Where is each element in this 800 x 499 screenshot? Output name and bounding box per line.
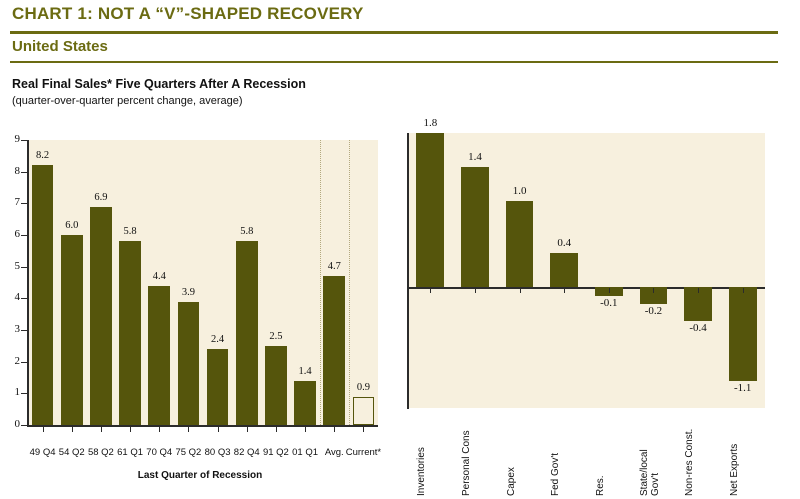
left-y-tick — [21, 267, 28, 268]
left-x-tick — [43, 426, 44, 432]
left-x-tick — [363, 426, 364, 432]
right-x-tick-label: State/local Gov't — [639, 412, 661, 496]
right-x-tick-label: Inventories — [416, 412, 427, 496]
left-bar-value-label: 6.9 — [85, 192, 117, 203]
right-x-tick-label: Capex — [506, 412, 517, 496]
left-x-tick — [276, 426, 277, 432]
left-bar — [265, 346, 287, 425]
left-y-tick — [21, 298, 28, 299]
left-y-tick-label: 0 — [4, 418, 20, 430]
left-bar — [294, 381, 316, 425]
left-bar-value-label: 2.4 — [202, 334, 234, 345]
right-bar-value-label: -0.2 — [633, 305, 673, 317]
left-bar-value-label: 2.5 — [260, 331, 292, 342]
right-bar-value-label: 1.0 — [500, 185, 540, 197]
left-bar-value-label: 0.9 — [347, 382, 379, 393]
right-x-tick-label: Res. — [595, 412, 606, 496]
right-x-tick — [475, 288, 476, 293]
right-y-axis — [407, 133, 409, 409]
chart-page: CHART 1: NOT A “V”-SHAPED RECOVERY Unite… — [0, 0, 800, 499]
left-chart-subtitle: (quarter-over-quarter percent change, av… — [12, 95, 243, 107]
right-bar — [461, 167, 489, 287]
left-bar — [61, 235, 83, 425]
left-y-tick — [21, 362, 28, 363]
left-y-tick-label: 1 — [4, 386, 20, 398]
left-y-tick — [21, 203, 28, 204]
left-bar-value-label: 5.8 — [114, 226, 146, 237]
left-y-tick-label: 3 — [4, 323, 20, 335]
left-category-separator — [320, 140, 321, 425]
right-x-tick — [698, 288, 699, 293]
right-x-tick-label: Personal Cons — [461, 412, 472, 496]
left-chart-panel: Real Final Sales* Five Quarters After A … — [0, 0, 395, 499]
left-y-tick — [21, 330, 28, 331]
left-y-tick — [21, 172, 28, 173]
left-bar — [353, 397, 375, 426]
left-bar — [119, 241, 141, 425]
left-x-tick — [188, 426, 189, 432]
right-bar-value-label: 1.8 — [410, 117, 450, 129]
right-bar-value-label: -0.4 — [678, 322, 718, 334]
right-x-tick — [653, 288, 654, 293]
right-bar — [416, 133, 444, 287]
right-x-tick — [609, 288, 610, 293]
left-x-tick — [72, 426, 73, 432]
right-bar — [506, 201, 534, 287]
right-x-tick — [430, 288, 431, 293]
right-chart-panel: Contribution to Change in Real GDP (aver… — [395, 0, 800, 499]
left-bar-value-label: 3.9 — [172, 287, 204, 298]
left-bar-value-label: 4.7 — [318, 261, 350, 272]
left-bar-value-label: 5.8 — [231, 226, 263, 237]
right-bar-value-label: 0.4 — [544, 237, 584, 249]
right-bar — [729, 287, 757, 381]
left-x-tick — [305, 426, 306, 432]
left-x-tick — [247, 426, 248, 432]
left-bar — [207, 349, 229, 425]
left-bar — [148, 286, 170, 425]
left-y-tick — [21, 425, 28, 426]
right-bar-value-label: -0.1 — [589, 297, 629, 309]
right-bar-value-label: -1.1 — [723, 382, 763, 394]
left-y-tick-label: 2 — [4, 355, 20, 367]
left-bar — [236, 241, 258, 425]
left-y-tick — [21, 140, 28, 141]
left-y-tick — [21, 393, 28, 394]
right-x-tick — [743, 288, 744, 293]
left-x-tick — [218, 426, 219, 432]
left-x-tick-label: Current* — [341, 447, 385, 458]
left-x-tick — [334, 426, 335, 432]
left-bar — [32, 165, 54, 425]
left-x-axis — [27, 425, 378, 427]
left-y-tick-label: 6 — [4, 228, 20, 240]
left-y-tick-label: 4 — [4, 291, 20, 303]
left-bar — [178, 302, 200, 426]
left-bar — [323, 276, 345, 425]
left-bar-value-label: 8.2 — [27, 150, 59, 161]
left-chart-title: Real Final Sales* Five Quarters After A … — [12, 77, 306, 91]
right-bar — [550, 253, 578, 287]
left-x-tick — [130, 426, 131, 432]
left-x-tick — [159, 426, 160, 432]
right-x-tick-label: Fed Gov't — [550, 412, 561, 496]
left-y-tick — [21, 235, 28, 236]
left-y-tick-label: 7 — [4, 196, 20, 208]
left-bar-value-label: 4.4 — [143, 271, 175, 282]
left-y-tick-label: 5 — [4, 260, 20, 272]
left-y-tick-label: 8 — [4, 165, 20, 177]
right-x-tick-label: Non-res Const. — [684, 412, 695, 496]
left-x-tick — [101, 426, 102, 432]
right-x-tick — [520, 288, 521, 293]
left-bar-value-label: 6.0 — [56, 220, 88, 231]
left-bar — [90, 207, 112, 426]
left-bar-value-label: 1.4 — [289, 366, 321, 377]
right-bar-value-label: 1.4 — [455, 151, 495, 163]
right-x-tick — [564, 288, 565, 293]
left-x-axis-title: Last Quarter of Recession — [110, 470, 290, 481]
left-y-tick-label: 9 — [4, 133, 20, 145]
left-y-axis — [27, 140, 29, 426]
right-x-tick-label: Net Exports — [729, 412, 740, 496]
